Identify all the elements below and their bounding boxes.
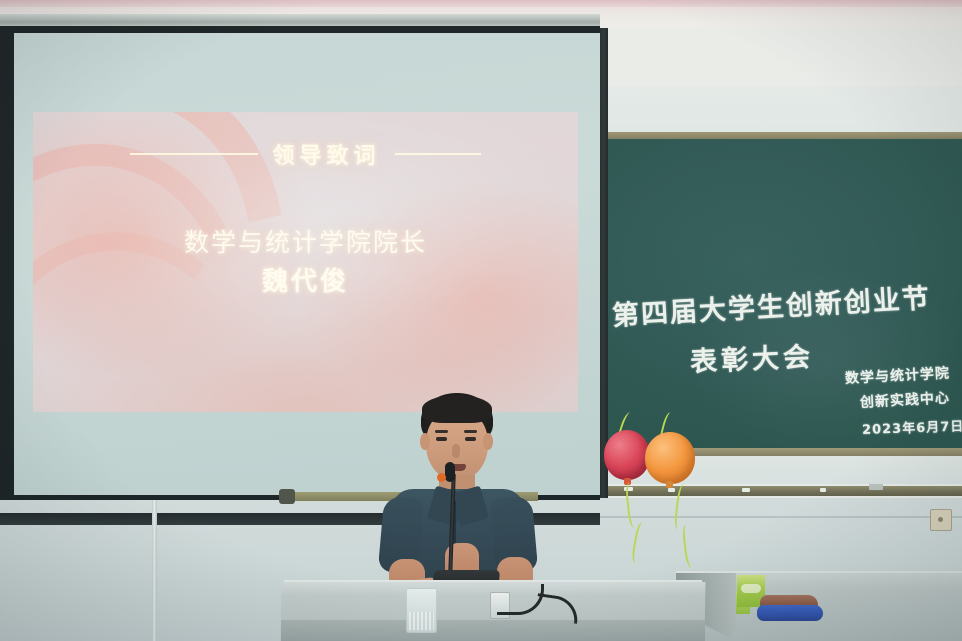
- speaker-eye-left: [436, 437, 447, 441]
- water-glass: [406, 588, 437, 633]
- slide-speaker-title: 数学与统计学院院长: [33, 224, 578, 262]
- chalk-piece: [742, 488, 750, 492]
- blackboard-upper-wall: [608, 86, 962, 136]
- wall-outlet: [930, 509, 952, 531]
- speaker-hair-front: [422, 395, 492, 423]
- orange-balloon: [645, 432, 695, 484]
- speaker-brow-right: [464, 430, 477, 433]
- speaker-eye-right: [465, 437, 476, 441]
- blackboard-headline-line2: 表彰大会: [689, 335, 815, 379]
- blue-cloth: [757, 605, 823, 621]
- speaker-nose: [452, 444, 460, 458]
- chalk-ledge: [596, 486, 962, 496]
- speaker-brow-left: [435, 430, 448, 433]
- slide-body: 数学与统计学院院长 魏代俊: [33, 224, 578, 303]
- eraser: [869, 484, 883, 490]
- slide-title: 领导致词: [272, 138, 380, 170]
- speaker-table-apron: [281, 620, 705, 641]
- speaker-ear-right: [483, 433, 493, 450]
- speaker: [373, 393, 557, 593]
- speaker-ear-left: [420, 433, 430, 450]
- orange-balloon-knot: [666, 481, 673, 488]
- blackboard-top-trim: [608, 132, 962, 139]
- wall-conduit: [152, 500, 157, 641]
- red-balloon: [604, 430, 650, 480]
- slide-rule-left: [130, 153, 258, 155]
- microphone-head: [445, 462, 455, 482]
- screen-roller-knob: [279, 489, 295, 504]
- ceiling-strip: [0, 0, 962, 7]
- slide-speaker-name: 魏代俊: [33, 262, 578, 304]
- projected-slide: 领导致词 数学与统计学院院长 魏代俊: [33, 112, 578, 412]
- classroom-photo: 第四届大学生创新创业节 表彰大会 数学与统计学院 创新实践中心 2023年6月7…: [0, 0, 962, 641]
- chalk-piece: [668, 488, 675, 492]
- blackboard-signature-date: 2023年6月7日: [862, 415, 962, 438]
- microphone-windscreen: [437, 473, 446, 482]
- chalk-piece: [820, 488, 826, 492]
- slide-rule-right: [395, 153, 481, 155]
- slide-title-row: 领导致词: [33, 138, 578, 170]
